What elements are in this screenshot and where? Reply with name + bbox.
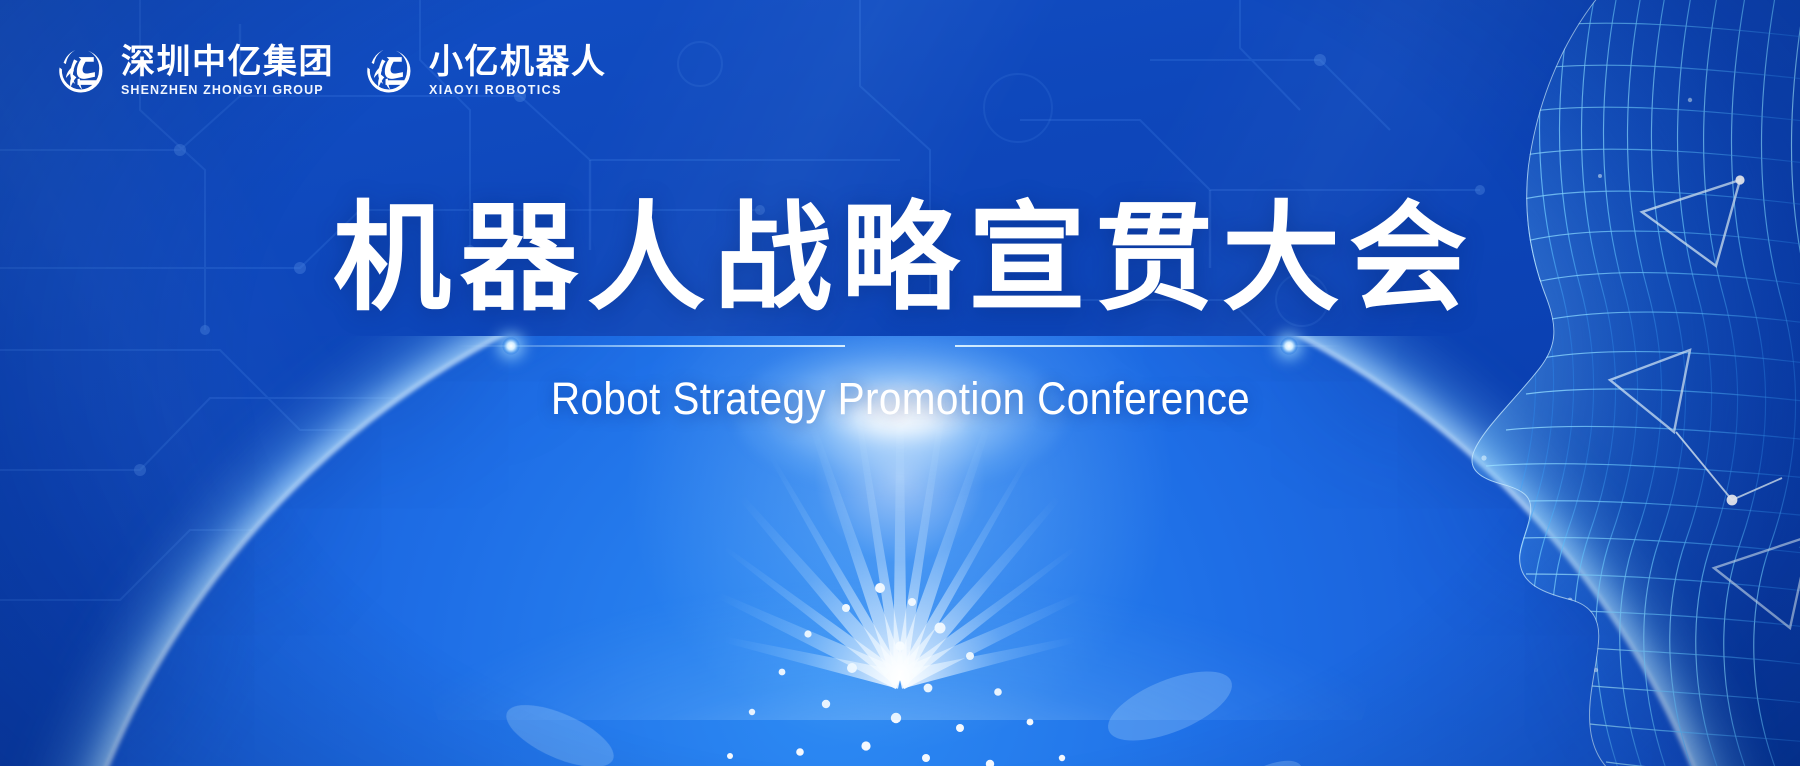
headline-block: 机器人战略宣贯大会 Robot Strategy Promotion Confe… (0, 196, 1800, 425)
logo-text-zhongyi: 深圳中亿集团 SHENZHEN ZHONGYI GROUP (121, 45, 334, 97)
logo-text-xiaoyi: 小亿机器人 XIAOYI ROBOTICS (429, 45, 607, 97)
xiaoyi-emblem-icon (360, 42, 418, 100)
logo-cn-zhongyi: 深圳中亿集团 (121, 45, 334, 79)
logo-lockup: 深圳中亿集团 SHENZHEN ZHONGYI GROUP 小亿机器人 (52, 42, 607, 100)
logo-cn-xiaoyi: 小亿机器人 (429, 45, 607, 79)
divider-glow-dot-right (1281, 338, 1298, 355)
divider-glow-dot-left (503, 338, 520, 355)
conference-title-cn: 机器人战略宣贯大会 (324, 196, 1476, 321)
conference-banner: 深圳中亿集团 SHENZHEN ZHONGYI GROUP 小亿机器人 (0, 0, 1800, 766)
logo-shenzhen-zhongyi-group: 深圳中亿集团 SHENZHEN ZHONGYI GROUP (52, 42, 334, 100)
conference-title-en: Robot Strategy Promotion Conference (550, 373, 1249, 425)
sunburst-rays-icon (430, 380, 1370, 720)
title-divider (455, 335, 1345, 357)
logo-xiaoyi-robotics: 小亿机器人 XIAOYI ROBOTICS (360, 42, 607, 100)
logo-en-zhongyi: SHENZHEN ZHONGYI GROUP (121, 84, 334, 97)
zhongyi-emblem-icon (52, 42, 110, 100)
logo-en-xiaoyi: XIAOYI ROBOTICS (429, 84, 607, 97)
